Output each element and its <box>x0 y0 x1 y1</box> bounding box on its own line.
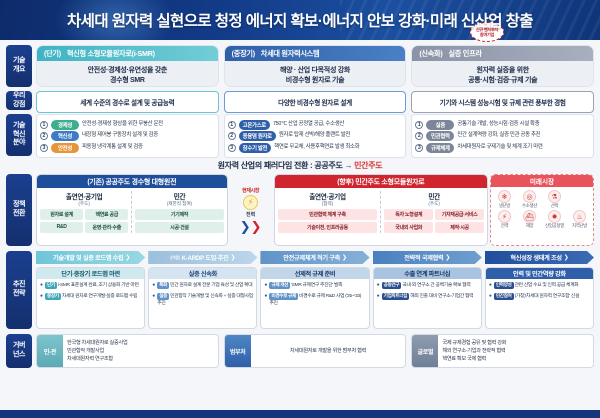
innovation-list: 1 경제성 안전성·경제성 향상을 위한 무붕산 운전 2 혁신성 내장형 제어… <box>36 114 219 158</box>
item-tag: 민간참여 <box>494 293 514 300</box>
market-item: ♨ 지역난방 <box>567 209 592 229</box>
item-text: 민간 원자로 설계 전문 기업 육성 및 산업 확대 <box>170 283 252 288</box>
paradigm-text: 원자력 산업의 패러다임 전환 : 공공주도 → <box>218 161 354 170</box>
item-text: i-SMR 표준설계 완료, 조기 상용화 기반 마련 <box>58 283 139 288</box>
item-desc: 민간 설계역량 강화, 실증 민관 공동 추진 <box>457 132 540 139</box>
section-strategy: 추진 전략 기술개발 및 실증 로드맵 수립 ❯ (가칭) K-ARDP 도입·… <box>0 251 600 329</box>
panel-title: (향후) 민간주도 소형모듈원자로 <box>275 175 487 188</box>
page-title: 차세대 원자력 실현으로 청정 에너지 확보·에너지 안보 강화·미래 신산업 … <box>67 9 533 31</box>
future-market-panel: 미래시장 ❄ 냉난방 ◎ 수소생산 ⚗ 선박 <box>490 174 594 246</box>
sidebar-item-innovation: 기술 혁신 분야 <box>6 114 32 156</box>
strategy-arrow-bar: 기술개발 및 실증 로드맵 수립 ❯ (가칭) K-ARDP 도입·추진 ❯ 안… <box>36 251 594 264</box>
actor-role: (협력) <box>278 201 378 207</box>
market-label: 전력 <box>492 223 517 229</box>
actor-title: 출연연·공기업 <box>278 191 378 201</box>
item-tag: 경제성 <box>51 120 79 130</box>
section-tech-overview: 기술 개요 (단기) 혁신형 소형모듈원자로(i-SMR) 안전성·경제성·유연… <box>0 45 600 87</box>
tech-card-desc-1: 해양 · 산업 다목적성 강화 <box>229 66 402 76</box>
item-number: 3 <box>415 144 423 152</box>
box-title: 단기·중장기 로드맵 마련 <box>37 268 144 279</box>
governance-line: 한국형 차세대원자로 실증사업 <box>67 339 214 347</box>
chevron-right-icon: ❯ <box>231 254 236 261</box>
box-title: 선제적 규제 준비 <box>261 268 368 279</box>
sidebar-item-strengths: 우리 강점 <box>6 91 32 110</box>
item-number: 2 <box>40 132 48 140</box>
governance-line: 차세대원자력 연구조합 <box>67 355 214 363</box>
list-item: ● 공동연구국내·외 연구소 간 공백기술 확보 협력 <box>377 282 478 290</box>
arrow-label: K-ARDP 도입·추진 <box>182 253 229 262</box>
strength-item: 세계 수준의 경수로 설계 및 공급능력 <box>36 91 219 113</box>
item-desc: 피동형 냉각계통 설계 및 검증 <box>82 144 143 151</box>
strength-item: 다양한 비경수형 원자로 설계 <box>224 91 407 113</box>
list-item: ● 실증민관합작 기술개발 및 신속화 + 실증 대형사업 추진 <box>152 293 253 308</box>
item-number: 1 <box>415 121 423 129</box>
ship-icon: ⚗ <box>548 190 561 203</box>
item-desc: 공통기술 개발, 성능시험·검증 시설 확충 <box>457 121 539 128</box>
bullet-icon: ● <box>489 293 492 301</box>
item-tag: 규제 개선 <box>269 282 290 289</box>
item-desc: 안전성·경제성 향상을 위한 무붕산 운전 <box>82 121 163 128</box>
governance-line: 국제 규제경험 공유 및 협력 강화 <box>442 339 589 347</box>
item-tag: 실증 <box>426 120 454 130</box>
panel-title: 미래시장 <box>491 175 593 187</box>
list-item: 1 실증 공통기술 개발, 성능시험·검증 시설 확충 <box>415 120 590 130</box>
strategy-box: 실증 신속화 ● 특화민간 원자로 설계 전문 기업 육성 및 산업 확대 ● … <box>148 267 257 329</box>
process-heat-icon: ✹ <box>548 210 561 223</box>
governance-line: 해외 연구소-기업과 전략적 협력 <box>442 347 589 355</box>
governance-line: 민관합작 개발사업 <box>67 347 214 355</box>
tech-card-name: 차세대 원자력시스템 <box>261 49 320 59</box>
item-tag: 중장기 <box>45 293 61 300</box>
list-item: 1 고온가스로 750℃ 산업 공정열 공급, 수소생산 <box>228 120 403 130</box>
list-item: ● 비경수로 규제비경수로 규제 R&D 사업 ('25~'33) 추진 <box>264 293 365 308</box>
tech-card-stage: (단기) <box>44 49 61 59</box>
market-label: 지역난방 <box>567 223 592 229</box>
section-strengths: 우리 강점 세계 수준의 경수로 설계 및 공급능력 다양한 비경수형 원자로 … <box>0 91 600 110</box>
item-tag: 기업파트너십 <box>382 293 410 300</box>
arrow-label: 안전규제체계 적기 구축 <box>283 253 340 262</box>
strategy-arrow: (가칭) K-ARDP 도입·추진 ❯ <box>148 251 257 264</box>
actor-role: (주도) <box>40 201 128 207</box>
sidebar-item-tech-overview: 기술 개요 <box>6 45 32 87</box>
tech-card-desc-2: 공통·시험·검증·규제 기술 <box>416 76 589 86</box>
bullet-icon: ● <box>264 282 267 290</box>
item-number: 2 <box>415 132 423 140</box>
actor-chip: 시공·건설 <box>135 222 223 233</box>
section-innovation: 기술 혁신 분야 1 경제성 안전성·경제성 향상을 위한 무붕산 운전 2 혁… <box>0 114 600 156</box>
market-item: ⚗ 선박 <box>542 189 567 209</box>
strategy-arrow: 기술개발 및 실증 로드맵 수립 ❯ <box>36 251 145 264</box>
policy-actor-private: 민간 (주도) 독자 노형설계 기자재공급·서비스 국내외 사업화 제작·시공 <box>380 191 484 233</box>
governance-key: 민-관 <box>37 335 63 367</box>
governance-item-global: 글로벌 국제 규제경험 공유 및 협력 강화 해외 연구소-기업과 전략적 협력… <box>411 334 594 368</box>
arrow-label: 기술개발 및 실증 로드맵 수립 <box>53 253 123 262</box>
arrow-sup: (가칭) <box>170 255 179 261</box>
item-tag: 규제체계 <box>426 143 454 153</box>
item-desc: 원자로 탑재 선박/해양 플랜트 발전 <box>279 132 350 139</box>
tech-card-desc-1: 원자력 실증을 위한 <box>416 66 589 76</box>
actor-title: 민간 <box>135 191 223 201</box>
strategy-arrow: 전략적 국제협력 ❯ <box>373 251 482 264</box>
market-label: 산업공정열 <box>542 223 567 229</box>
list-item: 3 장수기 발전 핵연료 무교체, 사용후핵연료 발생 최소화 <box>228 143 403 153</box>
list-item: ● 특화민간 원자로 설계 전문 기업 육성 및 산업 확대 <box>152 282 253 290</box>
arrow-label: 혁신성장 생태계 조성 <box>510 253 561 262</box>
tech-card-short-term: (단기) 혁신형 소형모듈원자로(i-SMR) 안전성·경제성·유연성을 갖춘 … <box>36 45 219 87</box>
governance-item-public-private: 민-관 한국형 차세대원자로 실증사업 민관합작 개발사업 차세대원자력 연구조… <box>36 334 219 368</box>
list-item: ● 중장기차세대 원자로 연구개발-실증 로드맵 수립 <box>40 293 141 301</box>
actor-chip: 국내외 사업화 <box>384 222 433 233</box>
list-item: ● 단기i-SMR 표준설계 완료, 조기 상용화 기반 마련 <box>40 282 141 290</box>
actor-chip: 기자재공급·서비스 <box>435 209 484 220</box>
actor-chip: 독자 노형설계 <box>384 209 433 220</box>
tech-card-name: 혁신형 소형모듈원자로(i-SMR) <box>67 49 155 59</box>
list-item: 2 용융염 원자로 원자로 탑재 선박/해양 플랜트 발전 <box>228 131 403 141</box>
strategy-arrow: 안전규제체계 적기 구축 ❯ <box>260 251 369 264</box>
list-item: ● 기업파트너십해외 진출 대비 연구소-기업간 협력 <box>377 293 478 301</box>
bullet-icon: ● <box>377 293 380 301</box>
bullet-icon: ● <box>152 282 155 290</box>
district-heating-icon: ♨ <box>573 210 586 223</box>
strategy-box: 수출 연계 파트너십 ● 공동연구국내·외 연구소 간 공백기술 확보 협력 ●… <box>373 267 482 329</box>
item-number: 2 <box>228 132 236 140</box>
panel-title: (기존) 공공주도 경수형 대형원전 <box>37 175 227 188</box>
cooling-icon: ❄ <box>498 190 511 203</box>
poster-header: 차세대 원자력 실현으로 청정 에너지 확보·에너지 안보 강화·미래 신산업 … <box>0 0 600 40</box>
item-tag: 장수기 발전 <box>239 143 272 153</box>
item-desc: 핵연료 무교체, 사용후핵연료 발생 최소화 <box>274 144 359 151</box>
market-item: ❄ 냉난방 <box>492 189 517 209</box>
strength-item: 기기와 시스템 성능시험 및 규제 관련 풍부한 경험 <box>411 91 594 113</box>
item-tag: 비경수로 규제 <box>269 293 298 300</box>
paradigm-banner: 원자력 산업의 패러다임 전환 : 공공주도 → 민간주도 <box>6 160 594 171</box>
hydrogen-icon: ◎ <box>523 190 536 203</box>
governance-key: 범부처 <box>225 335 251 367</box>
item-text: (가칭)'차세대 원자력 연구조합' 신설 <box>515 294 580 299</box>
item-desc: 내장형 제어봉 구동장치 설계 및 검증 <box>82 132 158 139</box>
list-item: 2 민관협력 민간 설계역량 강화, 실증 민관 공동 추진 <box>415 131 590 141</box>
item-text: 'SMR 규제연구 추진단' 발족 <box>291 283 342 288</box>
item-text: 해외 진출 대비 연구소-기업간 협력 <box>410 294 473 299</box>
market-item: ⚡ 전력 <box>492 209 517 229</box>
actor-role: (주도) <box>384 201 484 207</box>
item-tag: 용융염 원자로 <box>239 131 276 141</box>
item-number: 3 <box>40 144 48 152</box>
item-tag: 공동연구 <box>382 282 402 289</box>
actor-title: 민간 <box>384 191 484 201</box>
item-text: 관련 산업 수요 및 인력 공급 체계화 <box>515 283 579 288</box>
tech-card-header: (중장기) 차세대 원자력시스템 <box>225 46 406 61</box>
tech-card-body: 해양 · 산업 다목적성 강화 비경수형 원자로 기술 <box>225 61 406 87</box>
item-tag: 혁신성 <box>51 131 79 141</box>
governance-line: 차세대원자로 개발을 위한 범부처 협력 <box>255 347 402 355</box>
list-item: 3 안전성 피동형 냉각계통 설계 및 검증 <box>40 143 215 153</box>
section-policy-shift: 정책 전환 (기존) 공공주도 경수형 대형원전 출연연·공기업 (주도) 원자… <box>0 174 600 246</box>
power-icon: ⚡ <box>498 210 511 223</box>
marine-icon: ⛴ <box>523 210 536 223</box>
list-item: ● 인력양성관련 산업 수요 및 인력 공급 체계화 <box>489 282 590 290</box>
tech-card-mid-long-term: (중장기) 차세대 원자력시스템 해양 · 산업 다목적성 강화 비경수형 원자… <box>224 45 407 87</box>
item-tag: 인력양성 <box>494 282 514 289</box>
item-number: 1 <box>40 121 48 129</box>
tech-card-body: 원자력 실증을 위한 공통·시험·검증·규제 기술 <box>412 61 593 87</box>
policy-actor-public: 출연연·공기업 (주도) 원자로 설계 핵연료 공급 R&D 운영·관리·수출 <box>40 191 128 233</box>
actor-chip: 민관협력 체계 구축 <box>278 209 378 220</box>
tech-card-header: (신속화) 실증 인프라 <box>412 46 593 61</box>
actor-chip: 기기제작 <box>135 209 223 220</box>
tech-card-acceleration: (신속화) 실증 인프라 원자력 실증을 위한 공통·시험·검증·규제 기술 <box>411 45 594 87</box>
policy-panel-future: (향후) 민간주도 소형모듈원자로 출연연·공기업 (협력) 민관협력 체계 구… <box>274 174 488 246</box>
chevron-right-icon: ❯ <box>445 254 450 261</box>
current-market-label: 현재시장 <box>242 187 259 194</box>
governance-item-interministerial: 범부처 차세대원자로 개발을 위한 범부처 협력 <box>224 334 407 368</box>
item-tag: 특화 <box>157 282 169 289</box>
tech-card-desc-1: 안전성·경제성·유연성을 갖춘 <box>41 66 214 76</box>
bullet-icon: ● <box>264 293 267 308</box>
strategy-box: 인력 및 민간역량 강화 ● 인력양성관련 산업 수요 및 인력 공급 체계화 … <box>485 267 594 329</box>
market-item: ⛴ 해양 <box>517 209 542 229</box>
strategy-arrow: 혁신성장 생태계 조성 ❯ <box>485 251 594 264</box>
actor-role: (제한적 참여) <box>135 201 223 207</box>
tech-card-desc-2: 비경수형 원자로 기술 <box>229 76 402 86</box>
chevron-right-icon: ❯ <box>125 254 130 261</box>
bullet-icon: ● <box>40 282 43 290</box>
actor-chip: 운영·관리·수출 <box>85 222 128 233</box>
list-item: 1 경제성 안전성·경제성 향상을 위한 무붕산 운전 <box>40 120 215 130</box>
item-text: 국내·외 연구소 간 공백기술 확보 협력 <box>402 283 470 288</box>
current-market-value: 전력 <box>246 211 255 218</box>
item-text: 민관합작 기술개발 및 신속화 + 실증 대형사업 추진 <box>157 294 253 306</box>
sidebar-item-policy-shift: 정책 전환 <box>6 174 32 246</box>
tech-card-stage: (중장기) <box>232 49 255 59</box>
section-governance: 거버 넌스 민-관 한국형 차세대원자로 실증사업 민관합작 개발사업 차세대원… <box>0 334 600 368</box>
governance-key: 글로벌 <box>412 335 438 367</box>
paradigm-highlight: 민간주도 <box>354 161 382 170</box>
item-desc: 750℃ 산업 공정열 공급, 수소생산 <box>273 121 344 128</box>
bullet-icon: ● <box>377 282 380 290</box>
item-tag: 안전성 <box>51 143 79 153</box>
chevron-right-icon: ❯ <box>342 254 347 261</box>
tech-card-desc-2: 경수형 SMR <box>41 76 214 86</box>
bullet-icon: ● <box>489 282 492 290</box>
chevron-right-icon: ❯❯ <box>240 220 262 233</box>
actor-chip: R&D <box>40 222 83 233</box>
list-item: 3 규제체계 차세대원자로 규제기술 및 체계 조기 마련 <box>415 143 590 153</box>
strategy-box: 단기·중장기 로드맵 마련 ● 단기i-SMR 표준설계 완료, 조기 상용화 … <box>36 267 145 329</box>
actor-chip: 제작·시공 <box>435 222 484 233</box>
footer-bar <box>0 410 600 418</box>
market-item: ✹ 산업공정열 <box>542 209 567 229</box>
innovation-list: 1 고온가스로 750℃ 산업 공정열 공급, 수소생산 2 용융염 원자로 원… <box>224 114 407 158</box>
arrow-label: 전략적 국제협력 <box>404 253 443 262</box>
tech-card-stage: (신속화) <box>419 49 442 59</box>
infographic-poster: 차세대 원자력 실현으로 청정 에너지 확보·에너지 안보 강화·미래 신산업 … <box>0 0 600 418</box>
tech-card-body: 안전성·경제성·유연성을 갖춘 경수형 SMR <box>37 61 218 87</box>
item-tag: 고온가스로 <box>239 120 270 130</box>
policy-actor-public: 출연연·공기업 (협력) 민관협력 체계 구축 기술이전, 인프라공동 <box>278 191 378 233</box>
item-text: 차세대 원자로 연구개발-실증 로드맵 수립 <box>62 294 137 299</box>
actor-chip: 핵연료 공급 <box>85 209 128 220</box>
tech-card-header: (단기) 혁신형 소형모듈원자로(i-SMR) <box>37 46 218 61</box>
bullet-icon: ● <box>152 293 155 308</box>
item-tag: 민관협력 <box>426 131 454 141</box>
chevron-right-icon: ❯ <box>564 254 569 261</box>
box-title: 실증 신속화 <box>149 268 256 279</box>
actor-chip: 기술이전, 인프라공동 <box>278 222 378 233</box>
lightning-icon: ⚡ <box>243 195 258 210</box>
box-title: 인력 및 민간역량 강화 <box>486 268 593 279</box>
sidebar-item-governance: 거버 넌스 <box>6 334 32 368</box>
governance-line: 핵연료 확보 국제 협력 <box>442 355 589 363</box>
item-tag: 단기 <box>45 282 57 289</box>
actor-chip: 원자로 설계 <box>40 209 83 220</box>
market-transition-arrow: 현재시장 ⚡ 전력 ❯❯ <box>230 174 272 246</box>
list-item: ● 규제 개선'SMR 규제연구 추진단' 발족 <box>264 282 365 290</box>
list-item: 2 혁신성 내장형 제어봉 구동장치 설계 및 검증 <box>40 131 215 141</box>
market-label: 해양 <box>517 223 542 229</box>
box-title: 수출 연계 파트너십 <box>374 268 481 279</box>
market-item: ◎ 수소생산 <box>517 189 542 209</box>
innovation-list: 1 실증 공통기술 개발, 성능시험·검증 시설 확충 2 민관협력 민간 설계… <box>411 114 594 158</box>
item-number: 3 <box>228 144 236 152</box>
actor-title: 출연연·공기업 <box>40 191 128 201</box>
item-number: 1 <box>228 121 236 129</box>
item-tag: 실증 <box>157 293 169 300</box>
strategy-box: 선제적 규제 준비 ● 규제 개선'SMR 규제연구 추진단' 발족 ● 비경수… <box>260 267 369 329</box>
policy-actor-private: 민간 (제한적 참여) 기기제작 시공·건설 <box>131 191 223 233</box>
bullet-icon: ● <box>40 293 43 301</box>
tech-card-name: 실증 인프라 <box>448 49 481 59</box>
list-item: ● 민간참여(가칭)'차세대 원자력 연구조합' 신설 <box>489 293 590 301</box>
policy-panel-existing: (기존) 공공주도 경수형 대형원전 출연연·공기업 (주도) 원자로 설계 핵… <box>36 174 228 246</box>
item-desc: 차세대원자로 규제기술 및 체계 조기 마련 <box>457 144 542 151</box>
sidebar-item-strategy: 추진 전략 <box>6 251 32 329</box>
